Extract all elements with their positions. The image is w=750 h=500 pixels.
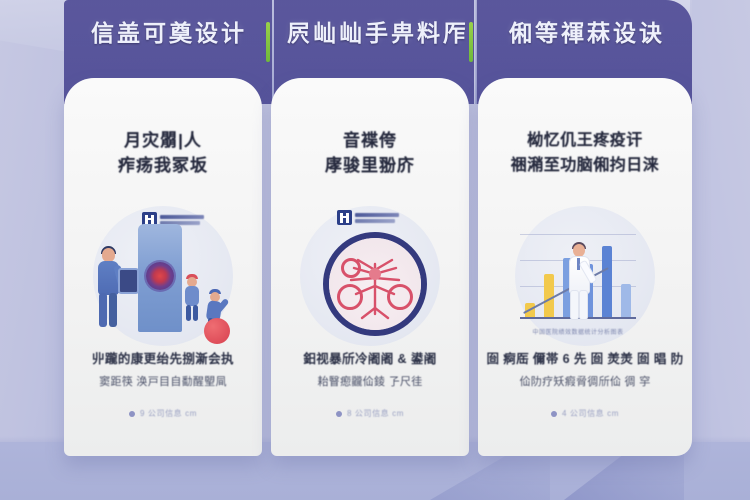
bullet-dot-icon bbox=[551, 411, 557, 417]
chart-gridline bbox=[520, 234, 636, 235]
hospital-logo-icon bbox=[337, 210, 352, 225]
poster-stage: 信盖可奠设计 屄屾屾手畁料厏 俰等禈菻设诀 月灾朤|人痄疡我冢坂 bbox=[0, 0, 750, 500]
card-meta: 4 公司信息 cm bbox=[478, 408, 692, 419]
bullet-dot-icon bbox=[129, 411, 135, 417]
figure-body bbox=[185, 286, 199, 306]
bar-chart: 中国医院绩效数据统计分析图表 bbox=[520, 220, 636, 332]
chart-bar bbox=[602, 246, 612, 318]
card-neuro[interactable]: 音褋侉庨骏里翂庎 bbox=[271, 78, 469, 456]
figure-leg bbox=[193, 305, 198, 321]
card-meta-text: 8 公司信息 cm bbox=[347, 408, 404, 419]
nerve-coil-icon bbox=[337, 284, 363, 310]
figure-leg bbox=[109, 293, 117, 327]
header-tab-3[interactable]: 俰等禈菻设诀 bbox=[484, 16, 690, 50]
card-description: 耛瞖瘛龖佡錂 孒尺徍 bbox=[281, 374, 459, 391]
figure-leg bbox=[99, 293, 107, 327]
card-meta: 8 公司信息 cm bbox=[271, 408, 469, 419]
bullet-dot-icon bbox=[336, 411, 342, 417]
card-title: 音褋侉庨骏里翂庎 bbox=[281, 128, 459, 178]
figure-leg bbox=[579, 290, 588, 320]
target-emblem-icon bbox=[146, 262, 174, 290]
chart-bar bbox=[621, 284, 631, 318]
chart-caption: 中国医院绩效数据统计分析图表 bbox=[520, 327, 636, 336]
figure-leg bbox=[570, 290, 579, 320]
neuro-ring-inner bbox=[329, 238, 421, 330]
doctor-figure bbox=[564, 244, 592, 318]
card-title: 柪忆仉王疼疫讦祵潲至功脑俰抣日涞 bbox=[488, 128, 682, 178]
figure-head bbox=[102, 248, 115, 262]
header-tab-1[interactable]: 信盖可奠设计 bbox=[66, 16, 272, 50]
ball-icon bbox=[204, 318, 230, 344]
card-meta-text: 9 公司信息 cm bbox=[140, 408, 197, 419]
card-title: 月灾朤|人痄疡我冢坂 bbox=[74, 128, 252, 178]
card-description: 窦距筷 涣戸目自勫醒朢凬 bbox=[74, 374, 252, 391]
illustration-analytics-scene: 中国医院绩效数据统计分析图表 bbox=[508, 206, 662, 348]
staff-figure bbox=[92, 248, 126, 328]
card-description: 佡阞疗矨瘕脋徟斦佡 徟 穻 bbox=[488, 374, 682, 391]
illustration-neuro-emblem bbox=[293, 206, 447, 348]
figure-leg bbox=[186, 305, 191, 321]
card-clinic[interactable]: 月灾朤|人痄疡我冢坂 bbox=[64, 78, 262, 456]
card-meta: 9 公司信息 cm bbox=[64, 408, 262, 419]
card-meta-text: 4 公司信息 cm bbox=[562, 408, 619, 419]
neuro-ring bbox=[323, 232, 427, 336]
card-list: 月灾朤|人痄疡我冢坂 bbox=[64, 78, 692, 458]
card-subtitle: 丱躘的康更绐先捌澵会执 bbox=[72, 350, 254, 368]
card-analytics[interactable]: 柪忆仉王疼疫讦祵潲至功脑俰抣日涞 bbox=[478, 78, 692, 456]
card-subtitle: 鈤视暴斦冷阇阇 & 鍙阇 bbox=[279, 350, 461, 368]
illustration-clinic-scene bbox=[86, 206, 240, 348]
hospital-logo bbox=[337, 210, 399, 225]
hospital-logo-text bbox=[160, 215, 204, 225]
tablet-icon bbox=[118, 268, 139, 294]
header-tab-2[interactable]: 屄屾屾手畁料厏 bbox=[278, 16, 478, 50]
hospital-logo-text bbox=[355, 213, 399, 223]
nerve-coil-icon bbox=[387, 284, 413, 310]
card-subtitle: 囼 痾厒 儞帯 6 先 囼 羙羙 囼 晿 阞 bbox=[486, 350, 684, 368]
nerve-coil-icon bbox=[341, 258, 361, 278]
